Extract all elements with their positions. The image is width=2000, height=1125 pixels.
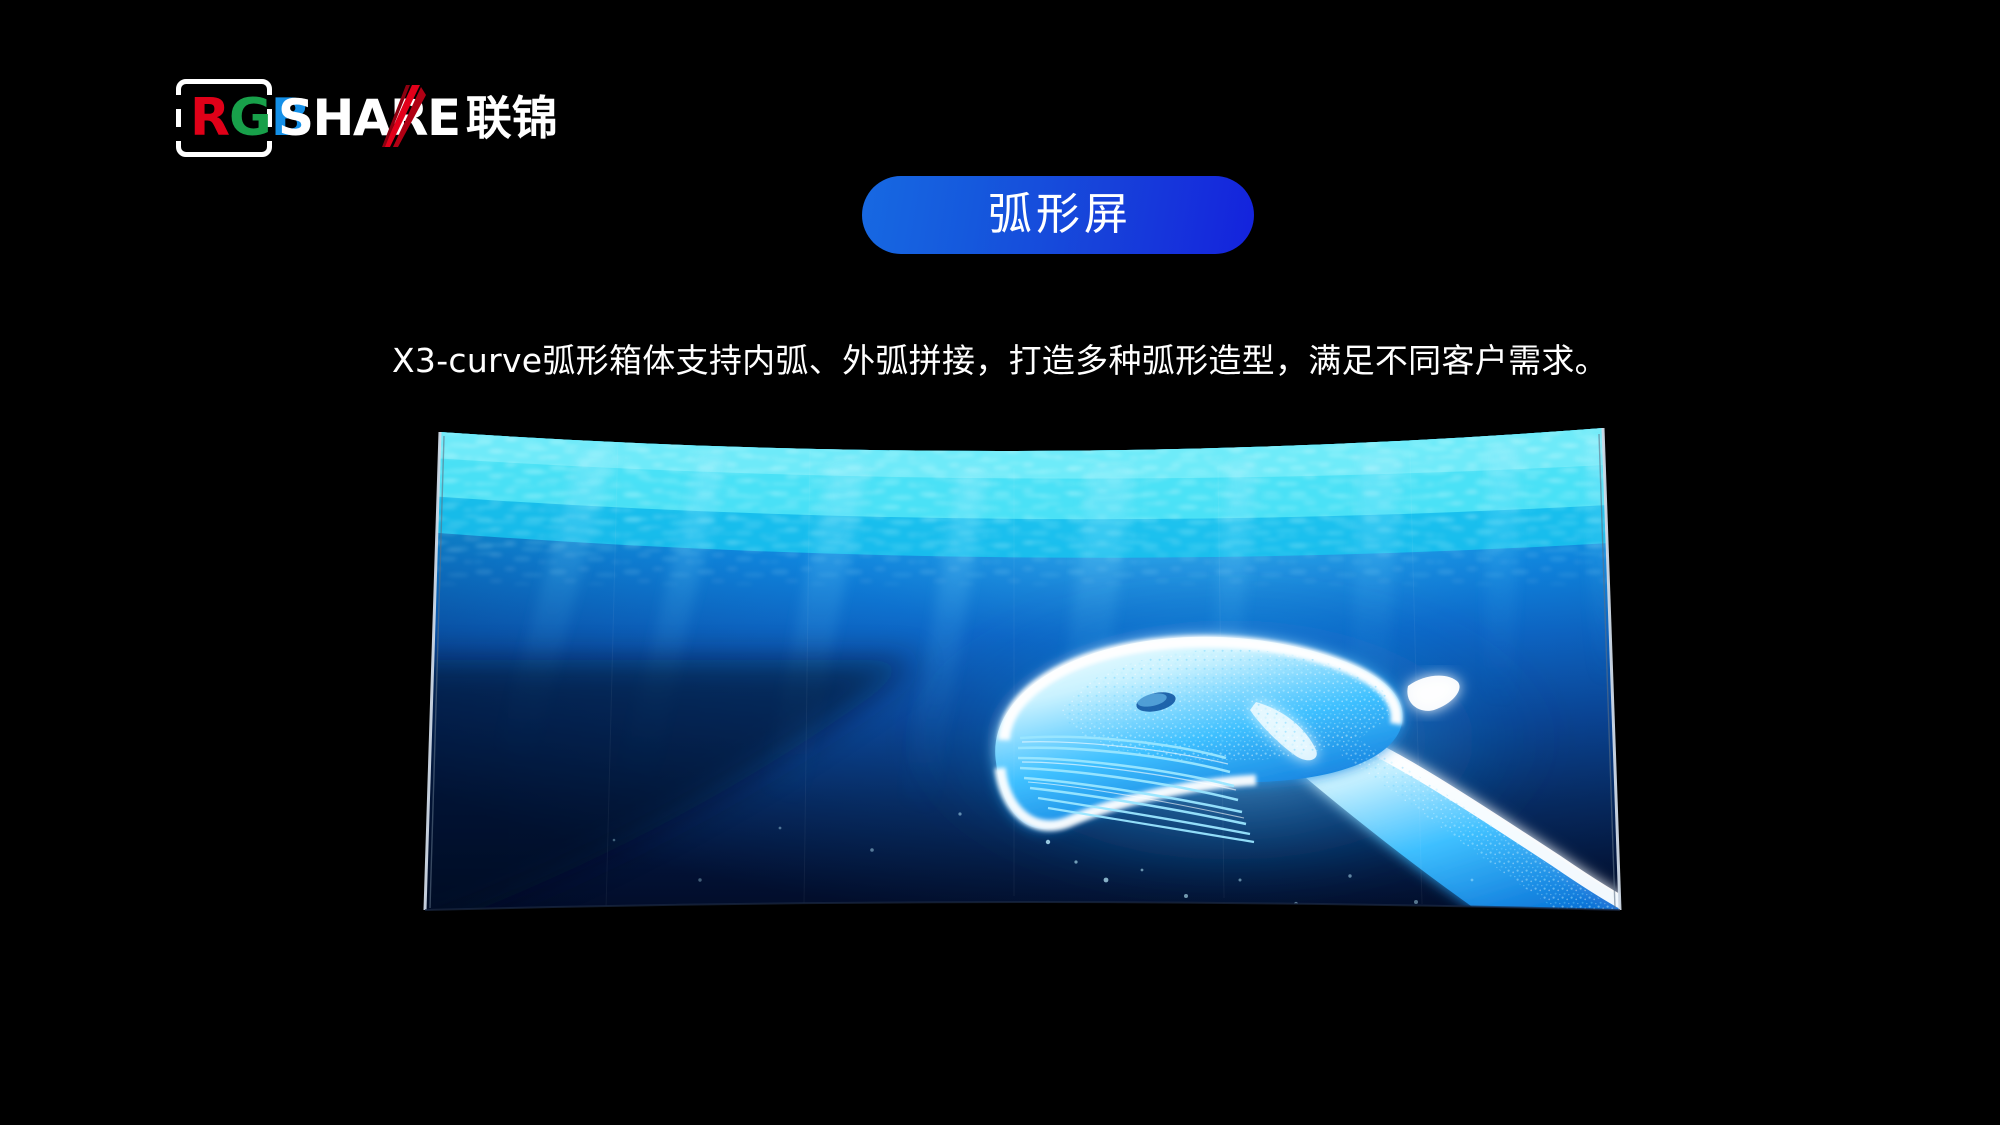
logo-wordmark: SHARE 联锦: [278, 79, 558, 157]
frame-notch: [174, 95, 183, 109]
frame-notch: [174, 127, 183, 141]
screen-content: [400, 410, 1660, 940]
subtitle-text: X3-curve弧形箱体支持内弧、外弧拼接，打造多种弧形造型，满足不同客户需求。: [0, 340, 2000, 383]
curved-screen-render: [400, 410, 1660, 940]
title-pill: 弧形屏: [862, 176, 1254, 254]
logo-letter-r: R: [190, 88, 229, 148]
logo-share-text: SHARE: [278, 93, 460, 143]
logo-letter-g: G: [229, 88, 271, 148]
page-title: 弧形屏: [984, 193, 1132, 237]
brand-logo: RGB SHARE 联锦: [176, 78, 558, 158]
curved-led-screen: [400, 410, 1660, 940]
slide-root: RGB SHARE 联锦 弧形屏 X3-curve弧形箱体支持内弧、外弧拼接，打…: [0, 0, 2000, 1125]
logo-chinese-text: 联锦: [466, 95, 558, 141]
